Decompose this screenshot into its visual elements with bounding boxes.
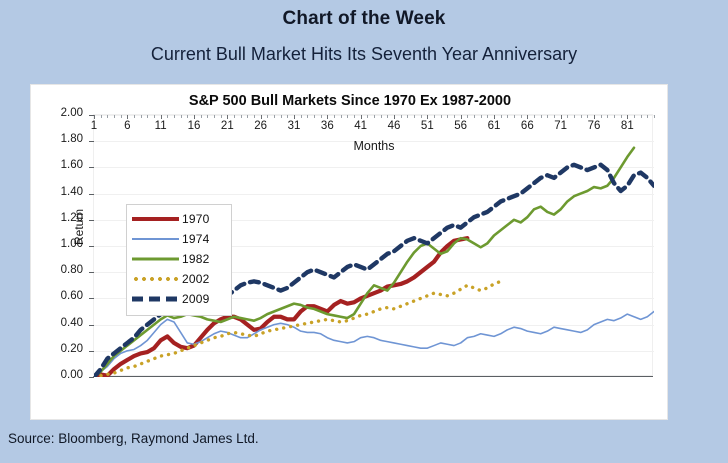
x-tick-mark: [341, 115, 342, 118]
y-axis-label: Return: [72, 209, 86, 245]
y-tick-label: 1.40: [41, 187, 83, 199]
y-tick-mark: [89, 325, 94, 326]
y-tick-label: 0.00: [41, 370, 83, 382]
y-tick-mark: [89, 272, 94, 273]
x-tick-mark: [307, 115, 308, 118]
x-tick-mark: [654, 115, 655, 118]
line-solid-green-icon: [132, 253, 179, 265]
x-tick-mark: [254, 115, 255, 118]
x-tick-mark: [314, 115, 315, 118]
page-title: Chart of the Week: [0, 8, 728, 30]
x-tick-label: 26: [249, 121, 273, 133]
line-solid-red-icon: [132, 213, 179, 225]
x-tick-mark: [627, 115, 628, 119]
x-tick-mark: [114, 115, 115, 118]
x-tick-mark: [621, 115, 622, 118]
x-tick-mark: [641, 115, 642, 118]
y-tick-mark: [89, 298, 94, 299]
x-tick-mark: [601, 115, 602, 118]
x-tick-mark: [281, 115, 282, 118]
x-tick-mark: [614, 115, 615, 118]
legend-item-1974[interactable]: 1974: [132, 229, 228, 249]
legend-item-label: 2002: [182, 272, 210, 286]
x-tick-mark: [221, 115, 222, 118]
x-tick-mark: [441, 115, 442, 118]
x-tick-mark: [547, 115, 548, 118]
x-tick-mark: [554, 115, 555, 118]
x-tick-mark: [567, 115, 568, 118]
x-tick-mark: [394, 115, 395, 119]
x-tick-mark: [374, 115, 375, 118]
x-tick-mark: [261, 115, 262, 119]
x-tick-mark: [127, 115, 128, 119]
x-tick-mark: [534, 115, 535, 118]
legend-item-label: 2009: [182, 292, 210, 306]
legend-item-2009[interactable]: 2009: [132, 289, 228, 309]
x-tick-mark: [334, 115, 335, 118]
x-tick-label: 31: [282, 121, 306, 133]
x-tick-label: 56: [449, 121, 473, 133]
x-tick-mark: [507, 115, 508, 118]
y-tick-label: 1.80: [41, 134, 83, 146]
y-tick-label: 1.60: [41, 160, 83, 172]
y-tick-label: 0.40: [41, 318, 83, 330]
x-tick-mark: [434, 115, 435, 118]
x-tick-mark: [147, 115, 148, 118]
x-axis-label: Months: [94, 139, 654, 153]
legend-item-label: 1982: [182, 252, 210, 266]
x-tick-mark: [381, 115, 382, 118]
x-tick-mark: [607, 115, 608, 118]
x-tick-mark: [407, 115, 408, 118]
x-tick-mark: [481, 115, 482, 118]
x-tick-mark: [121, 115, 122, 118]
y-tick-mark: [89, 351, 94, 352]
x-tick-label: 36: [315, 121, 339, 133]
x-tick-mark: [587, 115, 588, 118]
x-tick-mark: [514, 115, 515, 118]
x-tick-label: 81: [615, 121, 639, 133]
legend-item-label: 1974: [182, 232, 210, 246]
x-tick-label: 6: [115, 121, 139, 133]
x-tick-mark: [527, 115, 528, 119]
x-tick-label: 1: [82, 121, 106, 133]
x-tick-mark: [134, 115, 135, 118]
line-solid-blue-icon: [132, 233, 179, 245]
x-tick-label: 51: [415, 121, 439, 133]
legend-item-2002[interactable]: 2002: [132, 269, 228, 289]
x-tick-mark: [367, 115, 368, 118]
line-dotted-gold-icon: [132, 273, 179, 285]
legend-item-label: 1970: [182, 212, 210, 226]
legend-item-1982[interactable]: 1982: [132, 249, 228, 269]
x-tick-mark: [541, 115, 542, 118]
chart-title: S&P 500 Bull Markets Since 1970 Ex 1987-…: [31, 93, 669, 109]
x-tick-label: 71: [549, 121, 573, 133]
x-tick-label: 76: [582, 121, 606, 133]
slide-root: Chart of the Week Current Bull Market Hi…: [0, 0, 728, 463]
x-tick-mark: [347, 115, 348, 118]
x-tick-mark: [461, 115, 462, 119]
x-tick-mark: [487, 115, 488, 118]
x-tick-mark: [521, 115, 522, 118]
y-tick-mark: [89, 246, 94, 247]
y-tick-mark: [89, 377, 94, 378]
x-tick-mark: [294, 115, 295, 119]
x-tick-mark: [427, 115, 428, 119]
x-tick-mark: [494, 115, 495, 119]
x-tick-mark: [421, 115, 422, 118]
x-tick-mark: [414, 115, 415, 118]
x-tick-label: 11: [149, 121, 173, 133]
x-tick-mark: [241, 115, 242, 118]
chart-card: S&P 500 Bull Markets Since 1970 Ex 1987-…: [30, 84, 668, 420]
x-tick-mark: [234, 115, 235, 118]
x-tick-mark: [321, 115, 322, 118]
y-tick-label: 2.00: [41, 108, 83, 120]
x-tick-mark: [274, 115, 275, 118]
x-tick-mark: [247, 115, 248, 118]
x-tick-mark: [187, 115, 188, 118]
x-tick-mark: [141, 115, 142, 118]
x-tick-mark: [361, 115, 362, 119]
x-tick-mark: [101, 115, 102, 118]
x-tick-mark: [634, 115, 635, 118]
x-tick-label: 16: [182, 121, 206, 133]
x-tick-mark: [214, 115, 215, 118]
line-dashed-navy-icon: [132, 293, 179, 305]
x-tick-label: 21: [215, 121, 239, 133]
x-tick-mark: [167, 115, 168, 118]
x-tick-label: 46: [382, 121, 406, 133]
legend-item-1970[interactable]: 1970: [132, 209, 228, 229]
x-tick-mark: [581, 115, 582, 118]
x-tick-mark: [454, 115, 455, 118]
x-tick-label: 41: [349, 121, 373, 133]
x-tick-mark: [354, 115, 355, 118]
x-tick-label: 61: [482, 121, 506, 133]
y-tick-mark: [89, 220, 94, 221]
x-tick-mark: [227, 115, 228, 119]
x-tick-mark: [574, 115, 575, 118]
x-tick-mark: [154, 115, 155, 118]
y-tick-label: 0.60: [41, 291, 83, 303]
x-tick-mark: [194, 115, 195, 119]
x-tick-mark: [467, 115, 468, 118]
x-tick-mark: [267, 115, 268, 118]
x-tick-mark: [501, 115, 502, 118]
y-tick-label: 0.80: [41, 265, 83, 277]
x-tick-mark: [181, 115, 182, 118]
x-tick-mark: [647, 115, 648, 118]
x-tick-mark: [594, 115, 595, 119]
x-tick-mark: [161, 115, 162, 119]
page-subtitle: Current Bull Market Hits Its Seventh Yea…: [0, 44, 728, 65]
y-tick-mark: [89, 194, 94, 195]
x-tick-mark: [474, 115, 475, 118]
x-tick-mark: [287, 115, 288, 118]
x-tick-mark: [401, 115, 402, 118]
x-tick-mark: [107, 115, 108, 118]
y-tick-mark: [89, 167, 94, 168]
x-tick-label: 66: [515, 121, 539, 133]
x-tick-mark: [387, 115, 388, 118]
source-caption: Source: Bloomberg, Raymond James Ltd.: [8, 431, 259, 446]
chart-legend: 19701974198220022009: [126, 204, 232, 316]
x-tick-mark: [327, 115, 328, 119]
x-tick-mark: [174, 115, 175, 118]
x-tick-mark: [94, 115, 95, 119]
x-tick-mark: [301, 115, 302, 118]
x-tick-mark: [207, 115, 208, 118]
x-tick-mark: [447, 115, 448, 118]
y-tick-label: 0.20: [41, 344, 83, 356]
x-tick-mark: [201, 115, 202, 118]
x-tick-mark: [561, 115, 562, 119]
